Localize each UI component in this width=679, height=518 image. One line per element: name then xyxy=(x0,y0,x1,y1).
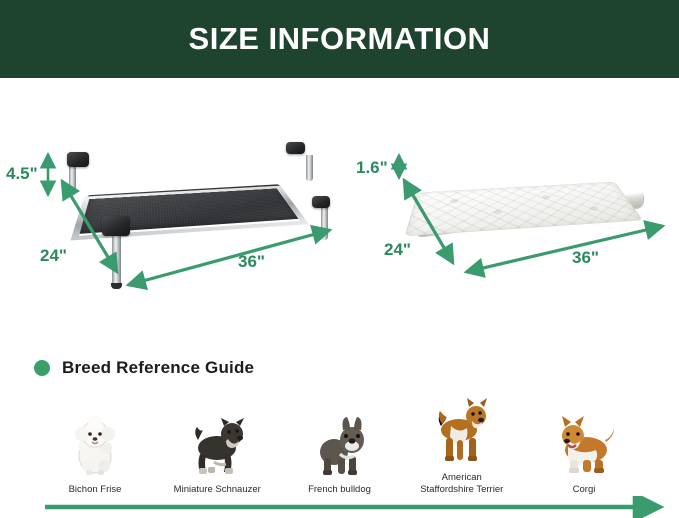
breed-guide-heading-label: Breed Reference Guide xyxy=(62,358,254,378)
right-arrow-icon xyxy=(0,496,679,518)
bichon-frise-icon xyxy=(66,406,124,478)
breed-item-miniature-schnauzer: Miniature Schnauzer xyxy=(156,406,278,496)
dimension-label-bed-depth: 24" xyxy=(40,246,67,266)
breed-label: French bulldog xyxy=(308,484,371,496)
green-dot-icon xyxy=(34,360,50,376)
breed-label: Corgi xyxy=(573,484,596,496)
dimension-label-mattress-depth: 24" xyxy=(384,240,411,260)
dog-bed-dimension-arrows xyxy=(0,78,350,338)
mattress-dimension-arrows xyxy=(350,78,679,338)
breed-item-bichon-frise: Bichon Frise xyxy=(34,406,156,496)
breed-item-american-staffordshire-terrier: AmericanStaffordshire Terrier xyxy=(401,394,523,496)
dimension-label-bed-height: 4.5" xyxy=(6,164,38,184)
breed-item-french-bulldog: French bulldog xyxy=(279,406,401,496)
american-staffordshire-terrier-icon xyxy=(429,394,495,466)
miniature-schnauzer-icon xyxy=(184,406,250,478)
breed-item-corgi: Corgi xyxy=(523,406,645,496)
breed-label: Bichon Frise xyxy=(69,484,122,496)
breed-reference-section: Breed Reference Guide xyxy=(0,340,679,518)
products-area: 4.5" 24" 36" 1.6" xyxy=(0,78,679,338)
dimension-label-bed-width: 36" xyxy=(238,252,265,272)
dimension-label-mattress-width: 36" xyxy=(572,248,599,268)
product-panel-dog-bed: 4.5" 24" 36" xyxy=(0,78,350,338)
breed-guide-heading: Breed Reference Guide xyxy=(34,358,254,378)
page-title: SIZE INFORMATION xyxy=(189,21,491,57)
french-bulldog-icon xyxy=(310,406,370,478)
breed-label: AmericanStaffordshire Terrier xyxy=(420,472,503,496)
product-panel-mattress: 1.6" 24" 36" xyxy=(350,78,679,338)
corgi-icon xyxy=(550,406,618,478)
header-banner: SIZE INFORMATION xyxy=(0,0,679,78)
breed-label: Miniature Schnauzer xyxy=(174,484,261,496)
dimension-label-mattress-height: 1.6" xyxy=(356,158,388,178)
breed-list: Bichon Frise xyxy=(34,396,645,496)
